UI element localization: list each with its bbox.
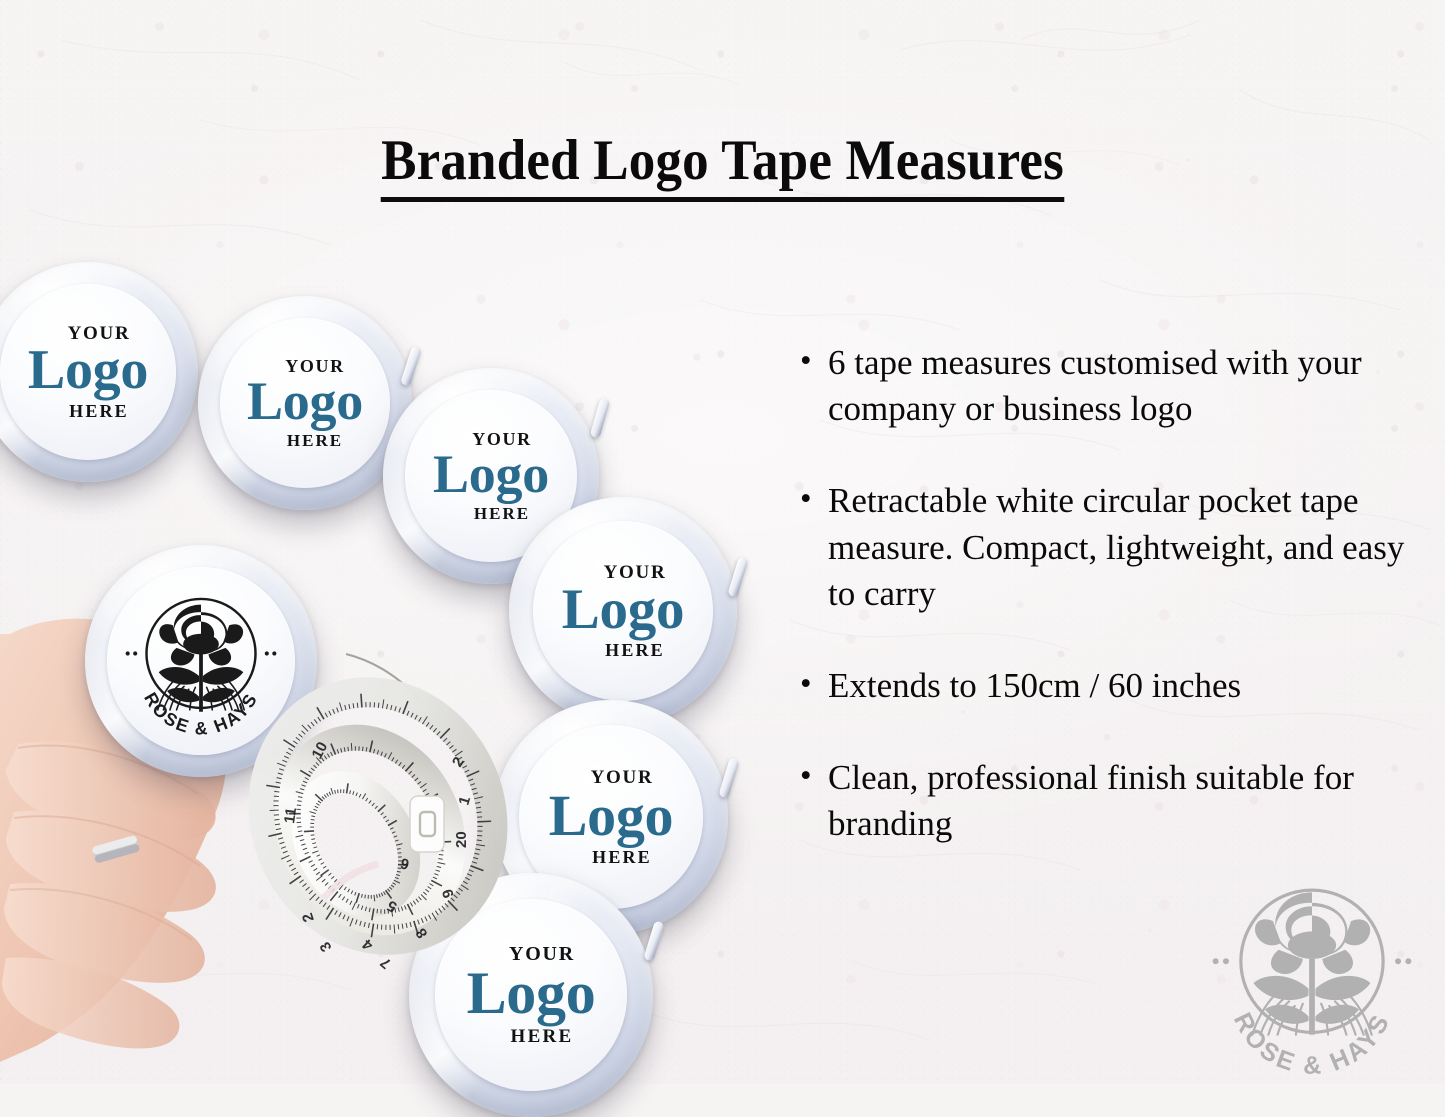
tape-measure-label: YOUR Logo HERE bbox=[0, 284, 176, 460]
logo-placeholder-bottom: HERE bbox=[605, 641, 665, 659]
svg-text:11: 11 bbox=[281, 806, 300, 824]
page-title-text: Branded Logo Tape Measures bbox=[381, 129, 1064, 202]
logo-placeholder-bottom: HERE bbox=[287, 432, 343, 449]
logo-placeholder-main: Logo bbox=[433, 449, 549, 501]
measuring-tape-spiral: 11 10 2 3 4 5 6 2 1 20 9 8 7 bbox=[228, 648, 528, 978]
list-item: • Extends to 150cm / 60 inches bbox=[800, 663, 1410, 709]
bullet-marker: • bbox=[800, 663, 828, 707]
bullet-text: Clean, professional finish suitable for … bbox=[828, 755, 1410, 847]
bullet-text: Extends to 150cm / 60 inches bbox=[828, 663, 1410, 709]
svg-text:7: 7 bbox=[377, 954, 394, 972]
logo-placeholder-bottom: HERE bbox=[511, 1027, 574, 1046]
svg-text:3: 3 bbox=[317, 939, 336, 955]
logo-placeholder-main: Logo bbox=[28, 344, 148, 398]
bullet-marker: • bbox=[800, 478, 828, 522]
svg-text:1: 1 bbox=[456, 794, 475, 807]
logo-placeholder-bottom: HERE bbox=[474, 505, 530, 522]
bullet-text: 6 tape measures customised with your com… bbox=[828, 340, 1410, 432]
bullet-marker: • bbox=[800, 755, 828, 799]
stem-icon bbox=[199, 653, 203, 711]
list-item: • 6 tape measures customised with your c… bbox=[800, 340, 1410, 432]
bullet-text: Retractable white circular pocket tape m… bbox=[828, 478, 1410, 617]
tape-measure-label: YOUR Logo HERE bbox=[533, 521, 713, 701]
tape-measure-label: YOUR Logo HERE bbox=[220, 318, 390, 488]
logo-placeholder-main: Logo bbox=[562, 583, 684, 638]
list-item: • Retractable white circular pocket tape… bbox=[800, 478, 1410, 617]
list-item: • Clean, professional finish suitable fo… bbox=[800, 755, 1410, 847]
brand-watermark: ROSE & HAYS bbox=[1197, 858, 1427, 1076]
logo-placeholder-main: Logo bbox=[549, 788, 674, 844]
page-title: Branded Logo Tape Measures bbox=[51, 128, 1395, 193]
bullet-marker: • bbox=[800, 340, 828, 384]
tape-end-tab bbox=[410, 796, 444, 852]
logo-placeholder-main: Logo bbox=[247, 376, 363, 428]
svg-text:20: 20 bbox=[453, 831, 470, 848]
logo-placeholder-bottom: HERE bbox=[69, 402, 129, 420]
feature-bullet-list: • 6 tape measures customised with your c… bbox=[800, 340, 1410, 894]
logo-placeholder-bottom: HERE bbox=[592, 848, 652, 866]
watermark-stem bbox=[1309, 959, 1315, 1035]
tape-measure-4: YOUR Logo HERE bbox=[509, 497, 737, 725]
tape-measure-2: YOUR Logo HERE bbox=[198, 296, 412, 510]
